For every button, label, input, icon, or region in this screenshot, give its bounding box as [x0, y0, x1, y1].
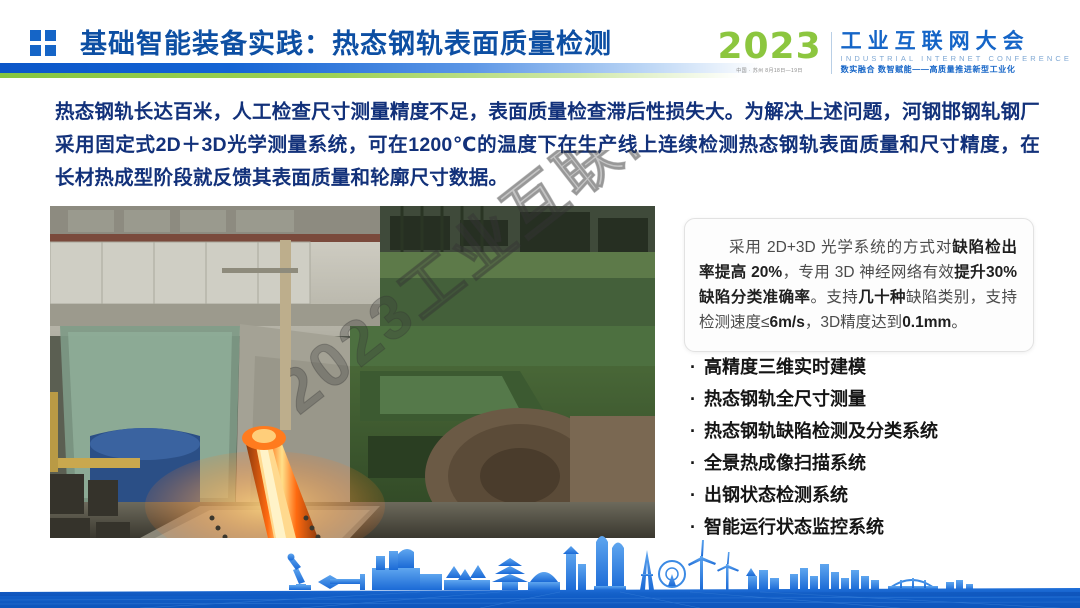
slide-header: 基础智能装备实践：热态钢轨表面质量检测 2023 中国 · 苏州 8月18日—1… [0, 0, 1080, 80]
list-item-label: 热态钢轨全尺寸测量 [704, 384, 866, 415]
callout-span: ，3D精度达到 [805, 314, 902, 331]
header-green-bar [0, 73, 740, 78]
bullet-marker: · [690, 352, 704, 383]
logo-name-en: INDUSTRIAL INTERNET CONFERENCE [841, 53, 1072, 64]
callout-span: ，专用 3D 神经网络有效 [782, 264, 954, 281]
logo-divider [831, 32, 832, 74]
intro-paragraph: 热态钢轨长达百米，人工检查尺寸测量精度不足，表面质量检查滞后性损失大。为解决上述… [55, 96, 1040, 195]
header-blue-bar [0, 63, 760, 73]
list-item: · 热态钢轨全尺寸测量 [690, 384, 1050, 415]
list-item-label: 高精度三维实时建模 [704, 352, 866, 383]
list-item-label: 热态钢轨缺陷检测及分类系统 [704, 416, 938, 447]
page-title: 基础智能装备实践：热态钢轨表面质量检测 [80, 22, 612, 61]
callout-emphasis: 6m/s [770, 314, 805, 331]
bullet-marker: · [690, 384, 704, 415]
list-item-label: 全景热成像扫描系统 [704, 448, 866, 479]
logo-year-subtitle: 中国 · 苏州 8月18日—19日 [717, 67, 821, 74]
list-item: · 高精度三维实时建模 [690, 352, 1050, 383]
callout-box: 采用 2D+3D 光学系统的方式对缺陷检出率提高 20%，专用 3D 神经网络有… [684, 218, 1034, 352]
bullet-marker: · [690, 480, 704, 511]
list-item-label: 出钢状态检测系统 [704, 480, 848, 511]
callout-emphasis: 0.1mm [902, 314, 951, 331]
steel-mill-photo [50, 206, 655, 538]
city-skyline-silhouette-icon [0, 530, 1080, 608]
callout-span: 。 [951, 314, 967, 331]
photo-illustration [50, 206, 655, 538]
logo-slogan: 数实融合 数智赋能——高质量推进新型工业化 [841, 64, 1072, 75]
list-item: · 热态钢轨缺陷检测及分类系统 [690, 416, 1050, 447]
slide: 基础智能装备实践：热态钢轨表面质量检测 2023 中国 · 苏州 8月18日—1… [0, 0, 1080, 608]
conference-logo: 2023 中国 · 苏州 8月18日—19日 工业互联网大会 INDUSTRIA… [717, 30, 1072, 82]
list-item: · 全景热成像扫描系统 [690, 448, 1050, 479]
logo-text-block: 工业互联网大会 INDUSTRIAL INTERNET CONFERENCE 数… [841, 30, 1072, 75]
callout-span: 。支持 [810, 289, 858, 306]
grid-squares-icon [30, 30, 56, 56]
list-item: · 出钢状态检测系统 [690, 480, 1050, 511]
logo-year: 2023 [717, 30, 821, 64]
callout-span: 采用 2D+3D 光学系统的方式对 [729, 239, 952, 256]
bullet-marker: · [690, 448, 704, 479]
logo-year-block: 2023 中国 · 苏州 8月18日—19日 [717, 30, 821, 74]
callout-emphasis: 几十种 [858, 289, 906, 306]
callout-text: 采用 2D+3D 光学系统的方式对缺陷检出率提高 20%，专用 3D 神经网络有… [699, 235, 1017, 335]
slide-footer [0, 530, 1080, 608]
bullet-marker: · [690, 416, 704, 447]
feature-list: · 高精度三维实时建模 · 热态钢轨全尺寸测量 · 热态钢轨缺陷检测及分类系统 … [690, 352, 1050, 544]
logo-name-cn: 工业互联网大会 [841, 30, 1072, 53]
